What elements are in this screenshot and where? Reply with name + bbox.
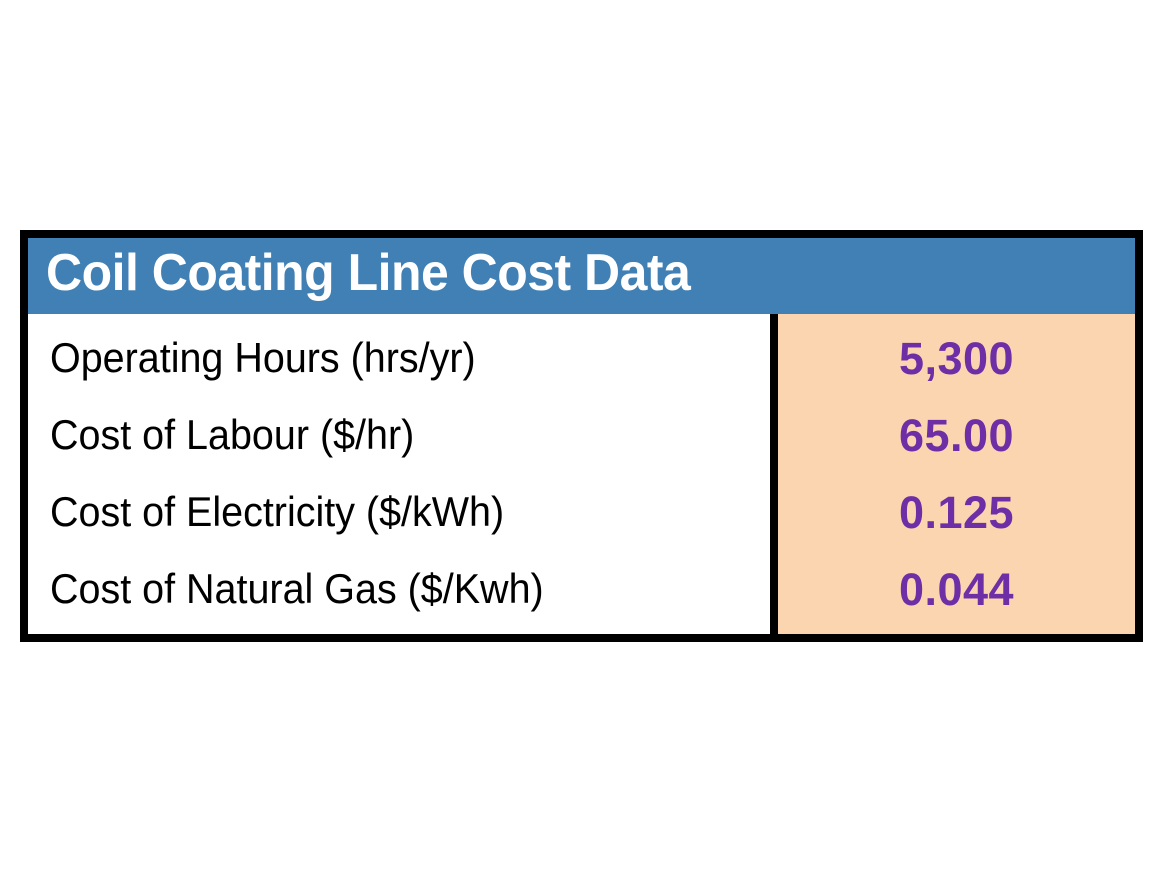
label-column: Operating Hours (hrs/yr) Cost of Labour … [28, 314, 770, 634]
table-row: Operating Hours (hrs/yr) [50, 320, 770, 397]
page-canvas: Coil Coating Line Cost Data Operating Ho… [0, 0, 1170, 878]
row-label-cost-of-labour: Cost of Labour ($/hr) [50, 413, 414, 457]
row-value-cost-of-labour: 65.00 [899, 412, 1014, 459]
cost-data-table: Coil Coating Line Cost Data Operating Ho… [20, 230, 1143, 642]
table-row: Cost of Natural Gas ($/Kwh) [50, 551, 770, 628]
row-value-cost-of-natural-gas: 0.044 [899, 566, 1014, 613]
table-row: 5,300 [778, 320, 1135, 397]
table-row: 0.125 [778, 474, 1135, 551]
table-row: Cost of Electricity ($/kWh) [50, 474, 770, 551]
row-value-cost-of-electricity: 0.125 [899, 489, 1014, 536]
table-header-band: Coil Coating Line Cost Data [28, 238, 1135, 314]
column-divider [770, 314, 778, 634]
row-label-cost-of-electricity: Cost of Electricity ($/kWh) [50, 490, 504, 534]
table-row: Cost of Labour ($/hr) [50, 397, 770, 474]
value-column: 5,300 65.00 0.125 0.044 [778, 314, 1135, 634]
row-label-operating-hours: Operating Hours (hrs/yr) [50, 336, 476, 380]
table-row: 65.00 [778, 397, 1135, 474]
table-body: Operating Hours (hrs/yr) Cost of Labour … [28, 314, 1135, 634]
table-row: 0.044 [778, 551, 1135, 628]
row-label-cost-of-natural-gas: Cost of Natural Gas ($/Kwh) [50, 567, 544, 611]
row-value-operating-hours: 5,300 [899, 335, 1014, 382]
table-title: Coil Coating Line Cost Data [46, 247, 690, 299]
